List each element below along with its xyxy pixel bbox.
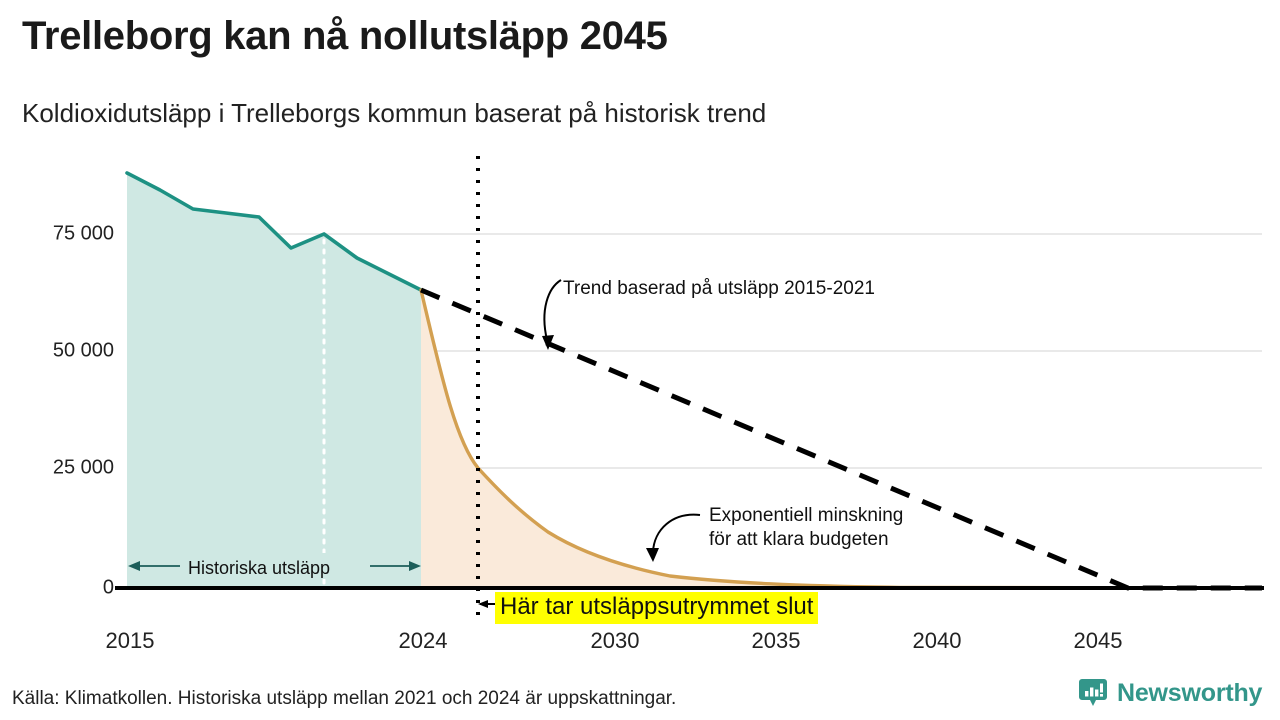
bar-chart-bubble-icon xyxy=(1078,678,1108,708)
y-tick-75000: 75 000 xyxy=(4,223,114,246)
y-tick-25000: 25 000 xyxy=(4,457,114,480)
exponential-annotation-arrow xyxy=(646,515,700,562)
annotation-exponential: Exponentiell minskning för att klara bud… xyxy=(709,504,903,552)
y-tick-50000: 50 000 xyxy=(4,340,114,363)
x-tick-2040: 2040 xyxy=(913,628,962,654)
logo-wordmark: Newsworthy xyxy=(1117,679,1262,708)
annotation-exponential-line2: för att klara budgeten xyxy=(709,528,903,552)
trend-annotation-arrow xyxy=(542,280,561,350)
x-tick-2035: 2035 xyxy=(752,628,801,654)
annotation-historical-span: Historiska utsläpp xyxy=(188,556,330,580)
historical-area xyxy=(127,173,421,588)
x-tick-2045: 2045 xyxy=(1074,628,1123,654)
chart-page: Trelleborg kan nå nollutsläpp 2045 Koldi… xyxy=(0,0,1280,720)
source-note: Källa: Klimatkollen. Historiska utsläpp … xyxy=(12,688,676,710)
x-tick-2024: 2024 xyxy=(399,628,448,654)
x-tick-2015: 2015 xyxy=(106,628,155,654)
annotation-budget-end: Här tar utsläppsutrymmet slut xyxy=(495,592,818,624)
newsworthy-logo[interactable]: Newsworthy xyxy=(1078,678,1262,708)
y-tick-0: 0 xyxy=(4,577,114,600)
x-tick-2030: 2030 xyxy=(591,628,640,654)
annotation-trend: Trend baserad på utsläpp 2015-2021 xyxy=(563,277,875,301)
annotation-exponential-line1: Exponentiell minskning xyxy=(709,504,903,528)
